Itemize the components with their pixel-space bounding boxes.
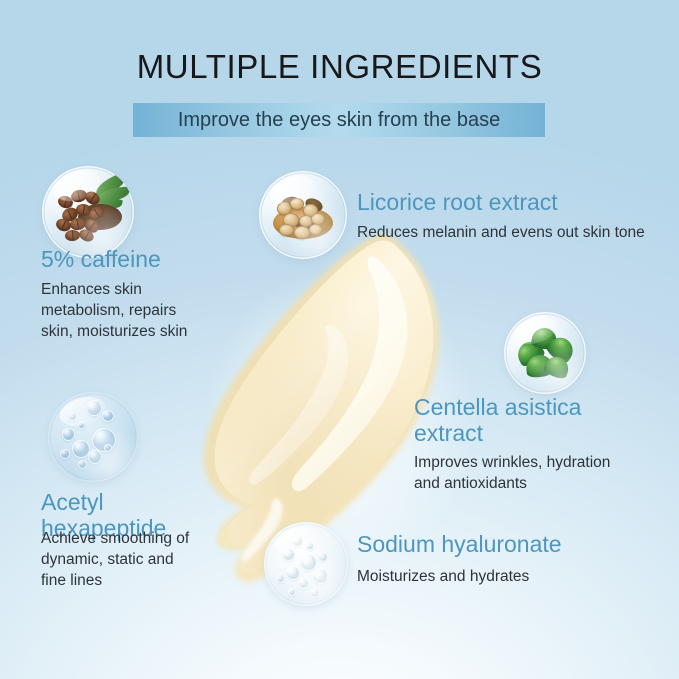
subtitle-banner: Improve the eyes skin from the base [133,103,545,137]
ingredient-desc-centella: Improves wrinkles, hydration and antioxi… [414,452,639,494]
gel-bubble-icon [306,542,314,550]
gel-bubble-icon [310,588,320,598]
ingredient-title-caffeine: 5% caffeine [41,246,261,272]
ingredient-desc-acetyl: Achieve smoothing of dynamic, static and… [41,528,193,591]
dish-rimlight [504,312,586,394]
licorice-root-slices-dish-icon [259,171,347,259]
bubble-icon [102,410,114,422]
bubble-icon [62,428,75,441]
bubble-icon [78,422,85,429]
blue-bubbles-dish-icon [48,392,138,482]
gel-bubble-icon [298,578,309,589]
licorice-root-slice [294,226,310,239]
licorice-root-slice [290,198,304,210]
gel-bubble-icon [312,568,328,584]
ingredient-title-licorice: Licorice root extract [357,189,657,215]
gel-bubble-icon [288,588,296,596]
centella-leaves-dish-icon [504,312,586,394]
ingredient-title-sodium: Sodium hyaluronate [357,531,657,557]
bubble-icon [86,400,102,416]
licorice-root-slice [309,224,322,235]
bubble-icon [78,460,87,469]
page-title: MULTIPLE INGREDIENTS [0,47,679,87]
ingredient-desc-sodium: Moisturizes and hydrates [357,566,657,587]
clear-gel-bubbles-dish-icon [264,522,348,606]
ingredient-desc-caffeine: Enhances skin metabolism, repairs skin, … [41,279,193,342]
gel-bubble-icon [276,574,285,583]
coffee-beans-dish-icon [42,166,134,258]
bubble-icon [68,412,77,421]
licorice-root-slice [279,224,294,236]
bubble-icon [88,450,102,464]
gel-bubble-icon [286,566,300,580]
ingredients-infographic: MULTIPLE INGREDIENTS Improve the eyes sk… [0,0,679,679]
bubble-icon [104,444,112,452]
ingredient-desc-licorice: Reduces melanin and evens out skin tone [357,222,667,243]
gel-bubble-icon [282,548,295,561]
ingredient-title-centella: Centella asistica extract [414,394,614,446]
bubble-icon [60,449,70,459]
gel-bubble-icon [318,552,328,562]
subtitle-text: Improve the eyes skin from the base [178,108,500,132]
gel-bubble-icon [292,536,303,547]
coffee-bean-icon [65,229,81,241]
